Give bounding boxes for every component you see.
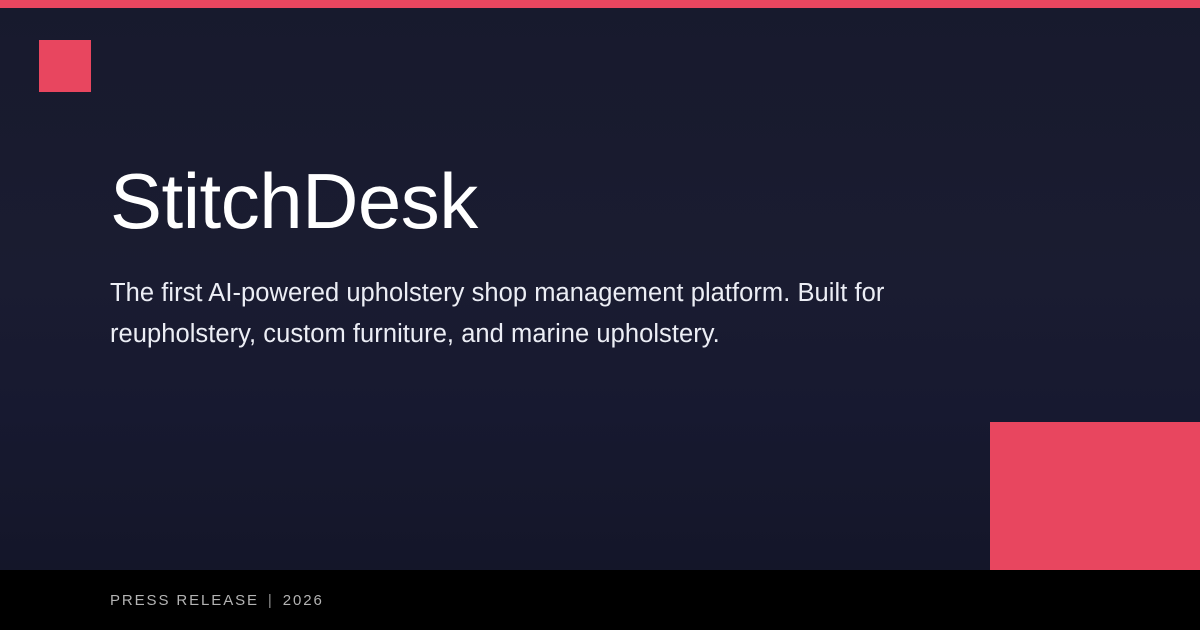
page-subtitle: The first AI-powered upholstery shop man… bbox=[110, 273, 985, 355]
press-release-card: StitchDesk The first AI-powered upholste… bbox=[0, 0, 1200, 630]
footer-label: PRESS RELEASE bbox=[110, 592, 259, 609]
footer-bar: PRESS RELEASE | 2026 bbox=[0, 570, 1200, 630]
page-title: StitchDesk bbox=[110, 160, 1010, 243]
square-logo-mark bbox=[39, 40, 91, 92]
footer-year: 2026 bbox=[283, 592, 324, 609]
footer-meta: PRESS RELEASE | 2026 bbox=[110, 570, 324, 630]
accent-block bbox=[990, 422, 1200, 570]
top-accent-rule bbox=[0, 0, 1200, 8]
hero-content: StitchDesk The first AI-powered upholste… bbox=[110, 160, 1010, 355]
hero-background: StitchDesk The first AI-powered upholste… bbox=[0, 0, 1200, 570]
footer-separator: | bbox=[259, 592, 283, 609]
